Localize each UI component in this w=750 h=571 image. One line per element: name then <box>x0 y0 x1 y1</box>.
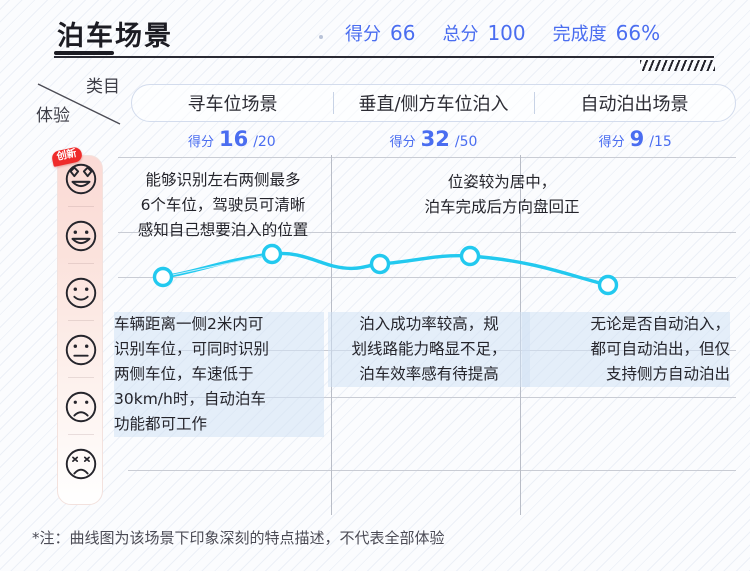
data-point <box>462 248 479 265</box>
score-number: 9 <box>630 127 645 151</box>
score-number: 16 <box>219 127 248 151</box>
stat-value-score: 66 <box>390 21 415 45</box>
annotation-park-in-top: 位姿较为居中， 泊车完成后方向盘回正 <box>388 170 616 220</box>
annotation-park-in-bottom: 泊入成功率较高，规 划线路能力略显不足， 泊车效率感有待提高 <box>328 312 530 387</box>
sad-face-icon <box>62 445 100 483</box>
data-point <box>155 269 172 286</box>
rail-divider <box>68 377 94 378</box>
star-struck-face-icon <box>62 160 100 198</box>
data-point <box>264 246 281 263</box>
stat-label-completion: 完成度 <box>553 20 607 46</box>
score-denominator: /15 <box>649 134 672 150</box>
tab-scores-row: 得分 16 /20 得分 32 /50 得分 9 /15 <box>131 127 736 153</box>
grinning-face-icon <box>62 217 100 255</box>
page-header: 泊车场景 得分 66 总分 100 完成度 66% <box>0 0 750 62</box>
annotation-find-spot-top: 能够识别左右两侧最多 6个车位，驾驶员可清晰 感知自己想要泊入的位置 <box>112 168 334 243</box>
tab-score-find-parking-spot: 得分 16 /20 <box>131 127 333 153</box>
tab-auto-park-out[interactable]: 自动泊出场景 <box>534 85 735 121</box>
stat-value-completion: 66% <box>616 21 660 45</box>
experience-level-rail: 创新 <box>57 155 103 505</box>
tab-score-park-out: 得分 9 /15 <box>534 127 736 153</box>
rail-divider <box>68 263 94 264</box>
rail-divider <box>68 320 94 321</box>
header-stats: 得分 66 总分 100 完成度 66% <box>345 20 660 46</box>
score-denominator: /20 <box>253 134 276 150</box>
annotation-park-out-bottom: 无论是否自动泊入， 都可自动泊出，但仅 支持侧方自动泊出 <box>522 312 730 387</box>
tab-score-park-in: 得分 32 /50 <box>333 127 535 153</box>
page-title: 泊车场景 <box>57 14 173 53</box>
score-number: 32 <box>421 127 450 151</box>
scenario-tab-bar[interactable]: 寻车位场景 垂直/侧方车位泊入 自动泊出场景 <box>131 84 736 122</box>
score-label: 得分 <box>390 131 416 150</box>
header-hatch-decoration <box>640 60 715 71</box>
frowning-face-icon <box>62 388 100 426</box>
footnote: *注：曲线图为该场景下印象深刻的特点描述，不代表全部体验 <box>32 527 445 548</box>
stat-label-total: 总分 <box>442 20 478 46</box>
score-denominator: /50 <box>455 134 478 150</box>
stat-label-score: 得分 <box>345 20 381 46</box>
annotation-find-spot-bottom: 车辆距离一侧2米内可 识别车位，可同时识别 两侧车位，车速低于 30km/h时，… <box>114 312 324 437</box>
score-label: 得分 <box>599 131 625 150</box>
data-point <box>372 256 389 273</box>
data-point <box>600 277 617 294</box>
neutral-face-icon <box>62 331 100 369</box>
smiling-face-icon <box>62 274 100 312</box>
stat-value-total: 100 <box>487 21 525 45</box>
score-label: 得分 <box>188 131 214 150</box>
header-bullet-dot <box>319 35 323 39</box>
axis-label-category: 类目 <box>86 72 120 97</box>
header-divider <box>54 56 714 58</box>
title-underline <box>54 51 114 55</box>
rail-divider <box>68 206 94 207</box>
tab-find-parking-spot[interactable]: 寻车位场景 <box>132 85 333 121</box>
axis-label-experience: 体验 <box>36 101 70 126</box>
axis-corner-label: 类目 体验 <box>34 72 126 138</box>
rail-divider <box>68 434 94 435</box>
tab-perpendicular-parallel-park-in[interactable]: 垂直/侧方车位泊入 <box>333 85 534 121</box>
